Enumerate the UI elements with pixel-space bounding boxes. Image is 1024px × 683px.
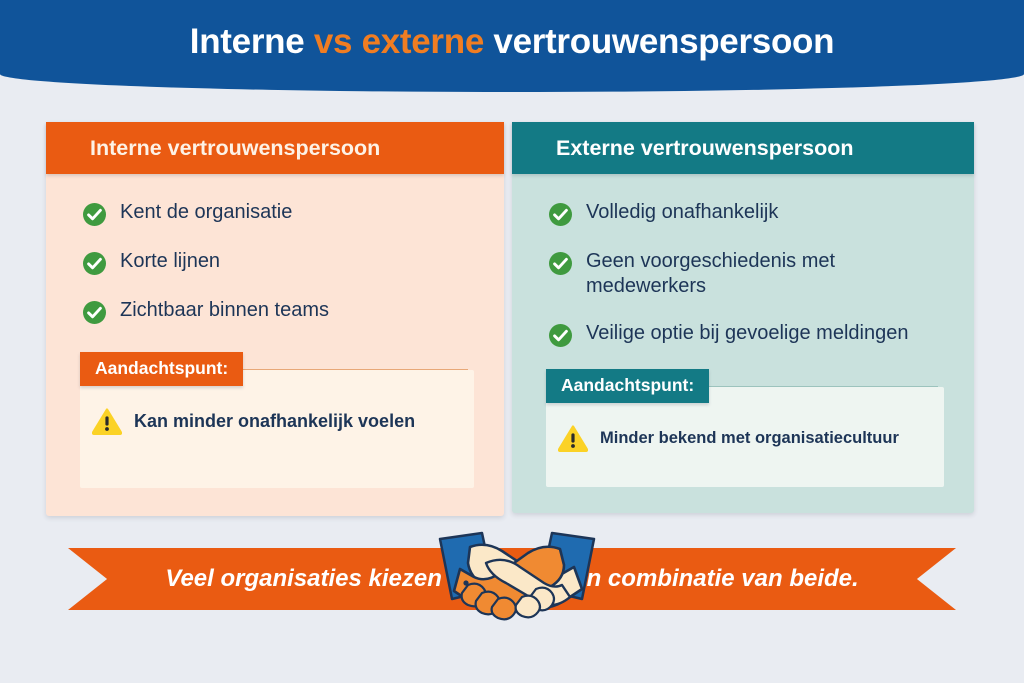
list-item: Geen voorgeschiedenis met medewerkers [548, 249, 974, 299]
bullet-list-externe: Volledig onafhankelijk Geen voorgeschied… [512, 174, 974, 348]
page-title: Interne vs externe vertrouwenspersoon [190, 22, 834, 62]
check-circle-icon [82, 300, 107, 325]
card-externe-vertrouwenspersoon: Externe vertrouwenspersoon Volledig onaf… [512, 122, 974, 513]
list-item-label: Veilige optie bij gevoelige meldingen [586, 321, 908, 346]
list-item-label: Korte lijnen [120, 249, 220, 274]
list-item: Kent de organisatie [82, 200, 504, 227]
attention-label: Aandachtspunt: [80, 352, 243, 386]
card-heading-interne: Interne vertrouwenspersoon [46, 122, 504, 174]
attention-text: Kan minder onafhankelijk voelen [134, 411, 415, 433]
page-header: Interne vs externe vertrouwenspersoon [0, 0, 1024, 92]
check-circle-icon [548, 323, 573, 348]
page-header-inner: Interne vs externe vertrouwenspersoon [0, 0, 1024, 84]
warning-triangle-icon [558, 425, 588, 452]
check-circle-icon [548, 202, 573, 227]
page-title-part-1: Interne [190, 22, 314, 61]
bullet-list-interne: Kent de organisatie Korte lijnen Zichtba… [46, 174, 504, 325]
page-title-part-3: vertrouwenspersoon [484, 22, 834, 61]
check-circle-icon [82, 251, 107, 276]
check-circle-icon [548, 251, 573, 276]
attention-label: Aandachtspunt: [546, 369, 709, 403]
handshake-icon [424, 527, 610, 631]
list-item-label: Zichtbaar binnen teams [120, 298, 329, 323]
card-interne-vertrouwenspersoon: Interne vertrouwenspersoon Kent de organ… [46, 122, 504, 516]
list-item: Zichtbaar binnen teams [82, 298, 504, 325]
list-item-label: Volledig onafhankelijk [586, 200, 778, 225]
list-item: Volledig onafhankelijk [548, 200, 974, 227]
attention-box-externe: Aandachtspunt: Minder bekend met organis… [546, 387, 944, 487]
list-item-label: Geen voorgeschiedenis met medewerkers [586, 249, 916, 299]
list-item: Korte lijnen [82, 249, 504, 276]
check-circle-icon [82, 202, 107, 227]
page-title-part-2: vs externe [314, 22, 484, 61]
list-item: Veilige optie bij gevoelige meldingen [548, 321, 974, 348]
warning-triangle-icon [92, 408, 122, 435]
attention-text: Minder bekend met organisatiecultuur [600, 429, 899, 449]
list-item-label: Kent de organisatie [120, 200, 292, 225]
card-heading-externe: Externe vertrouwenspersoon [512, 122, 974, 174]
attention-box-interne: Aandachtspunt: Kan minder onafhankelijk … [80, 370, 474, 488]
